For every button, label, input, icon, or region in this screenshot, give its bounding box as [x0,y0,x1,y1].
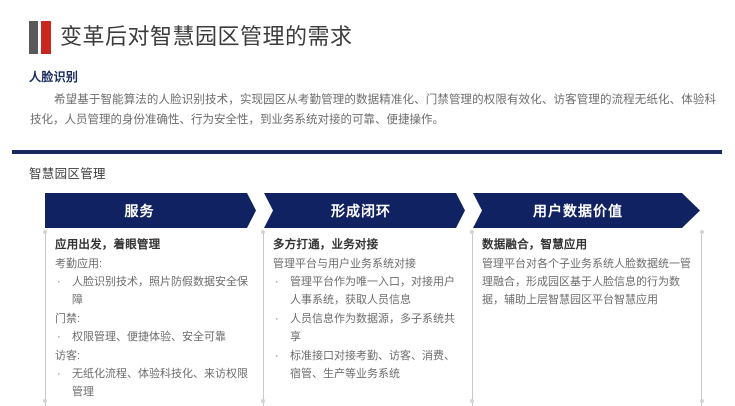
list-item-text: 人员信息作为数据源，多子系统共享 [290,313,455,343]
chevron-band-label: 用户数据价值 [533,201,623,221]
block-label: 智慧园区管理 [29,163,106,182]
list-item-text: 管理平台作为唯一入口，对接用户人事系统，获取人员信息 [290,276,455,306]
page-title: 变革后对智慧园区管理的需求 [60,20,353,54]
section-divider [12,150,722,154]
column-title: 应用出发，着眼管理 [55,236,254,254]
column-subhead: 访客: [55,347,254,365]
list-item: ·管理平台作为唯一入口，对接用户人事系统，获取人员信息 [273,273,463,309]
placeholder-handle [261,230,265,234]
list-item-text: 人脸识别技术，照片防假数据安全保障 [72,276,248,306]
title-accent-bar-gray [29,21,38,54]
bullet-list: ·无纸化流程、体验科技化、来访权限管理 [55,365,254,401]
section-paragraph: 希望基于智能算法的人脸识别技术，实现园区从考勤管理的数据精准化、门禁管理的权限有… [30,90,716,130]
placeholder-handle [43,399,47,403]
column-subhead: 门禁: [55,310,254,328]
column-service: 应用出发，着眼管理 考勤应用: ·人脸识别技术，照片防假数据安全保障 门禁: ·… [45,232,262,406]
column-subhead: 管理平台与用户业务系统对接 [273,255,463,273]
chevron-band-data-value[interactable]: 用户数据价值 [472,193,700,228]
bullet-list: ·人脸识别技术，照片防假数据安全保障 [55,273,254,309]
placeholder-handle [43,230,47,234]
column-data-value: 数据融合，智慧应用 管理平台对各个子业务系统人脸数据统一管理融合，形成园区基于人… [472,232,702,406]
list-item: ·人员信息作为数据源，多子系统共享 [273,310,463,346]
slide-title-row: 变革后对智慧园区管理的需求 [0,10,735,52]
column-group: 应用出发，着眼管理 考勤应用: ·人脸识别技术，照片防假数据安全保障 门禁: ·… [0,232,735,406]
column-body: 管理平台对各个子业务系统人脸数据统一管理融合，形成园区基于人脸信息的行为数据，辅… [482,255,693,309]
list-item-text: 标准接口对接考勤、访客、消费、宿管、生产等业务系统 [290,350,455,380]
chevron-band-closed-loop[interactable]: 形成闭环 [263,193,471,228]
chevron-band-label: 形成闭环 [331,201,391,221]
bullet-icon: · [57,328,61,346]
bullet-icon: · [57,365,61,383]
bullet-icon: · [275,310,279,328]
list-item: ·无纸化流程、体验科技化、来访权限管理 [55,365,254,401]
bullet-list: ·管理平台作为唯一入口，对接用户人事系统，获取人员信息 ·人员信息作为数据源，多… [273,273,463,383]
chevron-band-label: 服务 [125,201,155,221]
title-accent-bar-red [41,21,51,54]
list-item-text: 权限管理、便捷体验、安全可靠 [72,331,226,343]
list-item: ·人脸识别技术，照片防假数据安全保障 [55,273,254,309]
column-title: 多方打通，业务对接 [273,236,463,254]
placeholder-handle [470,230,474,234]
bullet-icon: · [275,347,279,365]
placeholder-handle [261,399,265,403]
placeholder-handle [700,230,704,234]
slide-canvas: 变革后对智慧园区管理的需求 人脸识别 希望基于智能算法的人脸识别技术，实现园区从… [0,0,735,406]
chevron-band-service[interactable]: 服务 [45,193,262,228]
bullet-icon: · [57,273,61,291]
column-subhead: 考勤应用: [55,255,254,273]
bullet-list: ·权限管理、便捷体验、安全可靠 [55,328,254,346]
bullet-icon: · [275,273,279,291]
placeholder-handle [700,399,704,403]
list-item: ·标准接口对接考勤、访客、消费、宿管、生产等业务系统 [273,347,463,383]
column-title: 数据融合，智慧应用 [482,236,693,254]
list-item: ·权限管理、便捷体验、安全可靠 [55,328,254,346]
placeholder-handle [470,399,474,403]
column-closed-loop: 多方打通，业务对接 管理平台与用户业务系统对接 ·管理平台作为唯一入口，对接用户… [263,232,471,406]
chevron-band-row: 服务 形成闭环 用户数据价值 [0,193,735,228]
section-heading: 人脸识别 [29,68,78,85]
list-item-text: 无纸化流程、体验科技化、来访权限管理 [72,368,248,398]
